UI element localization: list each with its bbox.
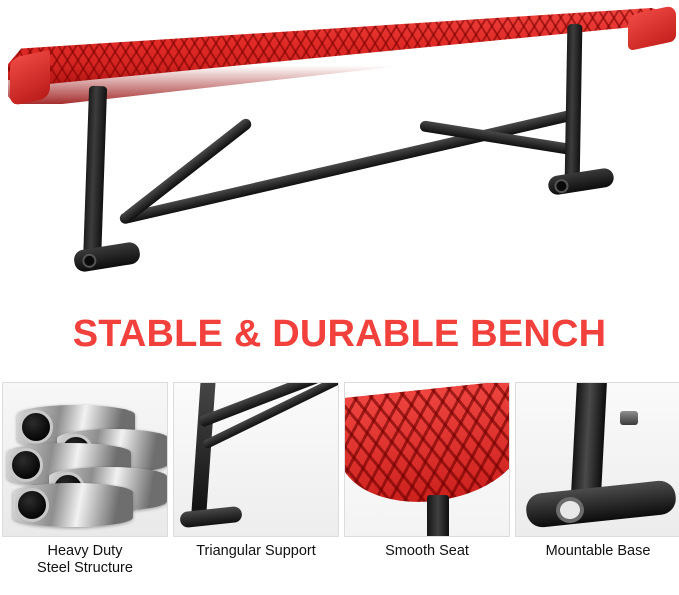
feature-item-heavy-duty-steel-structure: Heavy Duty Steel Structure (2, 382, 168, 582)
feature-label: Smooth Seat (347, 543, 507, 560)
triangular-support-icon (174, 383, 338, 536)
bench-seat-left-cap (10, 50, 50, 107)
bolt-icon (620, 411, 638, 425)
feature-label-line2: Steel Structure (5, 560, 165, 577)
mountable-base-icon (516, 383, 679, 536)
feature-label-line1: Heavy Duty (5, 543, 165, 560)
feature-image-mountable-base (515, 382, 679, 537)
steel-tubes-icon (3, 383, 167, 536)
hero-product-image (0, 0, 679, 300)
feature-item-mountable-base: Mountable Base (515, 382, 679, 582)
mounting-hole-icon (81, 253, 97, 269)
feature-image-triangular-support (173, 382, 339, 537)
feature-item-triangular-support: Triangular Support (173, 382, 339, 582)
feature-label-line1: Triangular Support (176, 543, 336, 560)
feature-item-smooth-seat: Smooth Seat (344, 382, 510, 582)
feature-label-line1: Smooth Seat (347, 543, 507, 560)
feature-label: Mountable Base (518, 543, 678, 560)
feature-image-steel-tubes (2, 382, 168, 537)
smooth-seat-icon (345, 383, 509, 536)
bench-rear-foot (547, 167, 615, 196)
mounting-hole-icon (553, 178, 569, 194)
feature-strip: Heavy Duty Steel Structure Triangular Su… (0, 382, 679, 582)
page-title: STABLE & DURABLE BENCH (0, 312, 679, 356)
feature-image-smooth-seat (344, 382, 510, 537)
feature-label-line1: Mountable Base (518, 543, 678, 560)
product-feature-page: STABLE & DURABLE BENCH Heavy Duty Steel … (0, 0, 679, 595)
feature-label: Triangular Support (176, 543, 336, 560)
feature-label: Heavy Duty Steel Structure (5, 543, 165, 577)
bench-front-leg (83, 86, 107, 267)
bench-rear-leg (565, 24, 583, 184)
